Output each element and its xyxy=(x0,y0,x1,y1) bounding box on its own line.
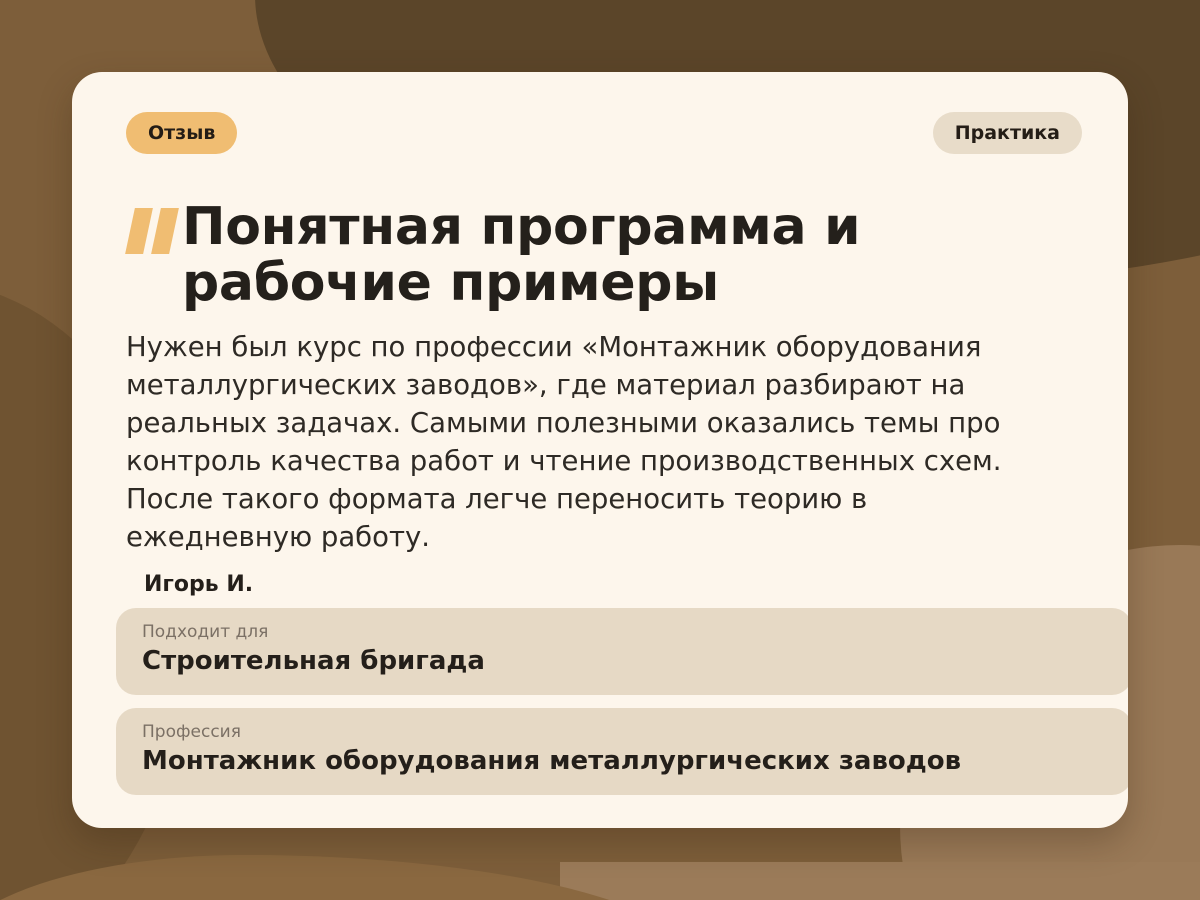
background-shape-bottom-right xyxy=(560,862,1200,900)
info-card-profession-value: Монтажник оборудования металлургических … xyxy=(142,746,1106,777)
info-card-profession-label: Профессия xyxy=(142,722,1106,742)
page-title: Понятная программа и рабочие примеры xyxy=(182,200,1008,311)
info-card-audience-label: Подходит для xyxy=(142,622,1106,642)
info-card-audience: Подходит для Строительная бригада xyxy=(116,608,1128,695)
heading-block: Понятная программа и рабочие примеры xyxy=(126,200,1008,311)
badge-row: Отзыв Практика xyxy=(126,112,1082,154)
badge-practice[interactable]: Практика xyxy=(933,112,1082,154)
badge-review[interactable]: Отзыв xyxy=(126,112,237,154)
testimonial-body-text: Нужен был курс по профессии «Монтажник о… xyxy=(126,329,1026,557)
testimonial-card: Отзыв Практика Понятная программа и рабо… xyxy=(72,72,1128,828)
info-card-profession: Профессия Монтажник оборудования металлу… xyxy=(116,708,1128,795)
info-card-audience-value: Строительная бригада xyxy=(142,646,1106,677)
quote-mark-icon xyxy=(126,208,182,258)
author-name: Игорь И. xyxy=(144,572,253,597)
